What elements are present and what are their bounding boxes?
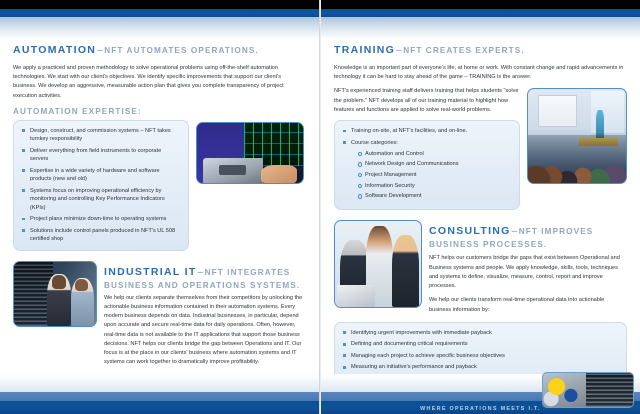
heading-keyword: Automation: [13, 44, 96, 56]
training-bullet-list: Training on-site, at NFT's facilities, a…: [343, 127, 510, 200]
automation-intro-paragraph: We apply a practiced and proven methodol…: [13, 64, 306, 101]
brochure-spread: Automation–NFT automates operations. We …: [0, 0, 640, 414]
heading-keyword: Industrial IT: [104, 266, 197, 278]
bottom-gradient-fade: [0, 374, 319, 392]
heading-dash: –: [511, 226, 519, 237]
industrial-it-intro-paragraph: We help our clients separate themselves …: [104, 294, 306, 368]
heading-dash: –: [197, 267, 205, 278]
top-blue-band: [0, 9, 319, 17]
training-intro-paragraph-2: NFT's experienced training staff deliver…: [334, 87, 520, 115]
audience-shape: [528, 135, 626, 184]
course-categories-list: Automation and Control Network Design an…: [351, 150, 510, 201]
list-item: Systems focus on improving operational e…: [22, 187, 179, 212]
page-left: Automation–NFT automates operations. We …: [0, 0, 320, 414]
list-item: Project plans minimize down-time to oper…: [22, 215, 179, 223]
section-heading-consulting: Consulting–NFT improves business process…: [429, 220, 627, 250]
bottom-light-blue-band: [0, 392, 319, 401]
list-item: Information Security: [358, 182, 510, 190]
list-item-label: Course categories:: [351, 140, 398, 146]
page-right: Training–NFT creates experts. Knowledge …: [320, 0, 640, 414]
automation-bullets-panel: Design, construct, and commission system…: [13, 120, 189, 251]
laptop-shape: [337, 285, 375, 307]
business-consulting-meeting-photo: [334, 220, 422, 308]
list-item: Managing each project to achieve specifi…: [343, 352, 617, 360]
training-intro-paragraph: Knowledge is an important part of everyo…: [334, 64, 627, 82]
hand-shape: [261, 165, 297, 183]
list-item: Course categories: Automation and Contro…: [343, 139, 510, 201]
hmi-control-room-photo: [196, 122, 304, 184]
top-gradient-fade: [321, 17, 640, 39]
left-page-content: Automation–NFT automates operations. We …: [0, 39, 319, 374]
list-item: Design, construct, and commission system…: [22, 127, 179, 144]
person-shape: [71, 278, 94, 325]
consulting-row: Consulting–NFT improves business process…: [334, 220, 627, 315]
top-black-band: [0, 0, 319, 9]
list-item: Project Management: [358, 171, 510, 179]
data-center-engineers-photo: [13, 261, 97, 327]
automation-bullet-list: Design, construct, and commission system…: [22, 127, 179, 244]
section-heading-industrial-it: Industrial IT–NFT integrates business an…: [104, 261, 306, 291]
heading-subtitle-line2: business and operations systems.: [104, 281, 306, 291]
list-item: Measuring an initiative's performance an…: [343, 363, 617, 371]
list-item: Automation and Control: [358, 150, 510, 158]
list-item: Expertise in a wide variety of hardware …: [22, 167, 179, 184]
list-item: Deliver everything from field instrument…: [22, 147, 179, 164]
list-item: Solutions include control panels produce…: [22, 227, 179, 244]
industrial-it-row: Industrial IT–NFT integrates business an…: [13, 261, 306, 368]
bottom-dark-blue-band: [0, 401, 319, 414]
top-gradient-fade: [0, 17, 319, 39]
automation-row: Design, construct, and commission system…: [13, 120, 306, 251]
training-row: NFT's experienced training staff deliver…: [334, 87, 627, 210]
automation-expertise-subheading: Automation expertise:: [13, 107, 306, 116]
right-page-content: Training–NFT creates experts. Knowledge …: [321, 39, 640, 374]
heading-subtitle: NFT creates experts.: [403, 46, 524, 55]
top-blue-band: [321, 9, 640, 17]
section-heading-training: Training–NFT creates experts.: [334, 39, 627, 59]
training-bullets-panel: Training on-site, at NFT's facilities, a…: [334, 120, 520, 210]
classroom-training-photo: [527, 88, 627, 184]
list-item: Defining and documenting critical requir…: [343, 340, 617, 348]
heading-dash: –: [395, 45, 403, 56]
footer-industrial-photo: [542, 372, 634, 408]
consulting-intro-paragraph-2: We help our clients transform real-time …: [429, 296, 627, 314]
list-item: Software Development: [358, 192, 510, 200]
heading-subtitle-line1: NFT integrates: [205, 268, 291, 277]
person-shape: [392, 235, 420, 307]
projection-screen-shape: [538, 95, 577, 127]
list-item: Training on-site, at NFT's facilities, a…: [343, 127, 510, 135]
person-shape: [47, 274, 72, 325]
heading-subtitle: NFT automates operations.: [104, 46, 259, 55]
heading-subtitle-line1: NFT improves: [519, 227, 594, 236]
machinery-shape: [543, 373, 588, 407]
top-black-band: [321, 0, 640, 9]
heading-keyword: Training: [334, 44, 395, 56]
list-item: Network Design and Communications: [358, 160, 510, 168]
list-item: Identifying urgent improvements with imm…: [343, 329, 617, 337]
heading-subtitle-line2: business processes.: [429, 240, 627, 250]
section-heading-automation: Automation–NFT automates operations.: [13, 39, 306, 59]
consulting-intro-paragraph: NFT helps our customers bridge the gaps …: [429, 254, 627, 291]
heading-keyword: Consulting: [429, 225, 511, 237]
laptop-shape: [203, 158, 262, 183]
server-rack-shape: [586, 373, 633, 407]
